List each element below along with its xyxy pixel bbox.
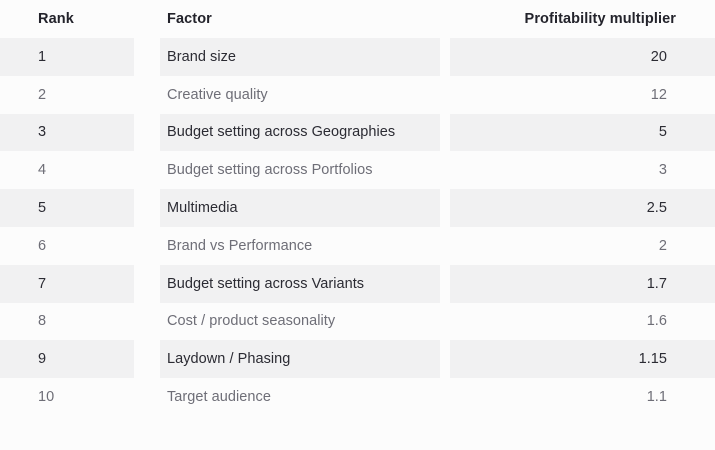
table-row: 5 Multimedia 2.5 (0, 189, 715, 227)
cell-rank: 8 (0, 303, 160, 341)
table-row: 7 Budget setting across Variants 1.7 (0, 265, 715, 303)
cell-factor: Brand size (160, 38, 450, 76)
cell-rank: 6 (0, 227, 160, 265)
column-header-rank: Rank (0, 0, 160, 38)
cell-rank: 7 (0, 265, 160, 303)
cell-rank: 4 (0, 151, 160, 189)
column-header-factor: Factor (160, 0, 450, 38)
cell-value: 3 (450, 151, 715, 189)
table-row: 4 Budget setting across Portfolios 3 (0, 151, 715, 189)
cell-value: 1.1 (450, 378, 715, 416)
table-row: 2 Creative quality 12 (0, 76, 715, 114)
table-row: 9 Laydown / Phasing 1.15 (0, 340, 715, 378)
cell-value: 20 (450, 38, 715, 76)
cell-factor: Brand vs Performance (160, 227, 450, 265)
bottom-spacer (0, 416, 715, 450)
table-row: 1 Brand size 20 (0, 38, 715, 76)
cell-rank: 5 (0, 189, 160, 227)
cell-factor: Laydown / Phasing (160, 340, 450, 378)
table-header-row: Rank Factor Profitability multiplier (0, 0, 715, 38)
cell-value: 12 (450, 76, 715, 114)
cell-value: 2.5 (450, 189, 715, 227)
cell-rank: 10 (0, 378, 160, 416)
cell-factor: Cost / product seasonality (160, 303, 450, 341)
factor-ranking-table: Rank Factor Profitability multiplier 1 B… (0, 0, 715, 416)
table-header: Rank Factor Profitability multiplier (0, 0, 715, 38)
cell-rank: 1 (0, 38, 160, 76)
cell-value: 5 (450, 114, 715, 152)
table-row: 6 Brand vs Performance 2 (0, 227, 715, 265)
cell-value: 1.15 (450, 340, 715, 378)
cell-value: 2 (450, 227, 715, 265)
table-row: 8 Cost / product seasonality 1.6 (0, 303, 715, 341)
cell-value: 1.7 (450, 265, 715, 303)
cell-factor: Budget setting across Variants (160, 265, 450, 303)
cell-factor: Budget setting across Portfolios (160, 151, 450, 189)
column-header-profitability-multiplier: Profitability multiplier (450, 0, 715, 38)
cell-rank: 2 (0, 76, 160, 114)
table-body: 1 Brand size 20 2 Creative quality 12 3 … (0, 38, 715, 416)
cell-rank: 9 (0, 340, 160, 378)
table-row: 3 Budget setting across Geographies 5 (0, 114, 715, 152)
table-row: 10 Target audience 1.1 (0, 378, 715, 416)
cell-factor: Budget setting across Geographies (160, 114, 450, 152)
cell-factor: Creative quality (160, 76, 450, 114)
cell-factor: Target audience (160, 378, 450, 416)
factor-ranking-table-container: Rank Factor Profitability multiplier 1 B… (0, 0, 715, 430)
cell-rank: 3 (0, 114, 160, 152)
cell-value: 1.6 (450, 303, 715, 341)
cell-factor: Multimedia (160, 189, 450, 227)
